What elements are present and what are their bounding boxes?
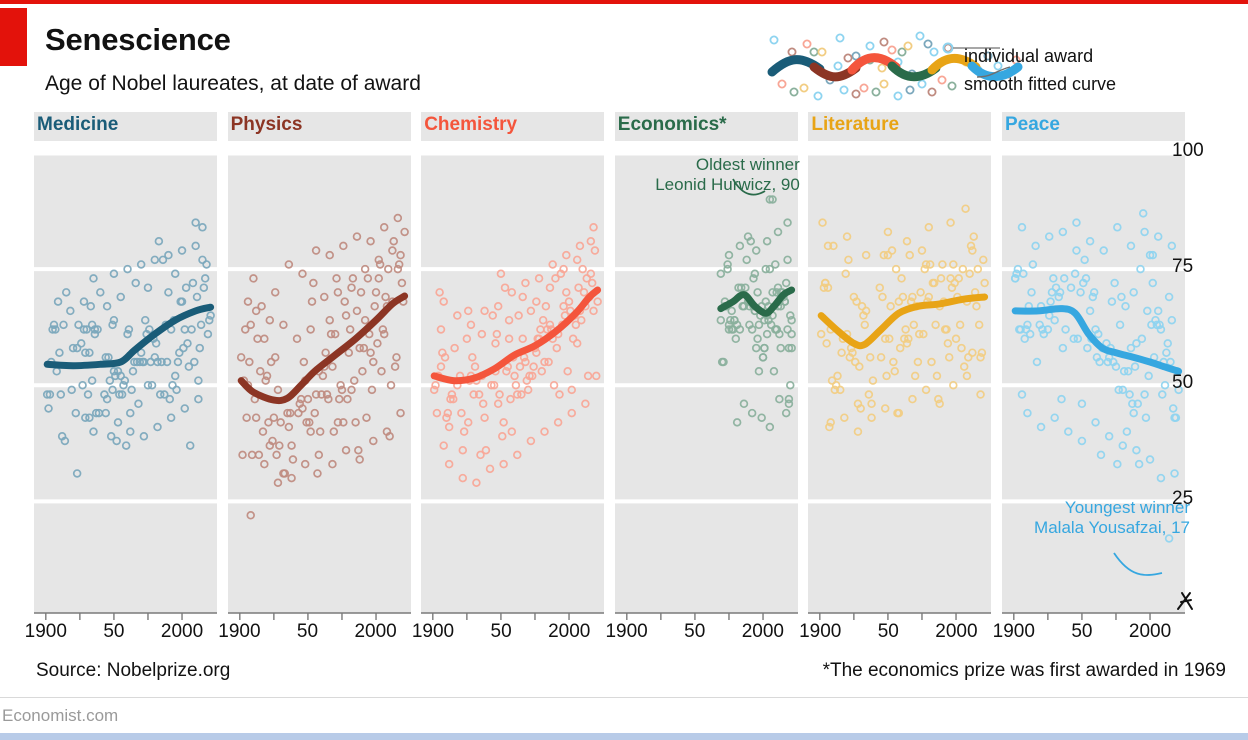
x-tick-label: 50 [471,621,531,643]
x-tick-label: 2000 [346,621,406,643]
x-tick-label: 1900 [984,621,1044,643]
scatter-points [818,205,988,435]
annotation-oldest-winner: Oldest winnerLeonid Hurwicz, 90 [610,155,800,195]
panel-title: Literature [811,114,899,136]
x-tick-label: 50 [1052,621,1112,643]
x-axis-group: 1900502000 [1002,612,1185,652]
panel-header: Economics* [615,112,798,141]
legend-item-individual-award: individual award [964,46,1093,67]
panel-title: Medicine [37,114,118,136]
y-axis: 100 75 50 25 [1172,112,1248,632]
x-tick-label: 50 [84,621,144,643]
page-title: Senescience [45,22,231,58]
x-axis-group: 1900502000 [421,612,604,652]
y-tick-25: 25 [1172,488,1193,510]
page-subtitle: Age of Nobel laureates, at date of award [45,72,421,96]
x-tick-label: 2000 [926,621,986,643]
scatter-points [44,219,214,477]
panel-header: Peace [1002,112,1185,141]
panel-header: Physics [228,112,411,141]
x-tick-label: 1900 [790,621,850,643]
panel-physics: Physics [228,112,411,612]
x-axis-group: 1900502000 [34,612,217,652]
x-axis-group: 1900502000 [808,612,991,652]
panel-header: Chemistry [421,112,604,141]
x-tick-label: 50 [858,621,918,643]
small-multiples-panels: MedicinePhysicsChemistryEconomics*Oldest… [34,112,1164,612]
panel-header: Literature [808,112,991,141]
panel-title: Peace [1005,114,1060,136]
scatter-points [1012,210,1182,542]
panel-economics: Economics*Oldest winnerLeonid Hurwicz, 9… [615,112,798,612]
panel-literature: Literature [808,112,991,612]
x-tick-label: 2000 [152,621,212,643]
legend-item-fitted-curve: smooth fitted curve [964,74,1116,95]
x-tick-label: 2000 [733,621,793,643]
scatter-points [717,196,795,430]
y-tick-75: 75 [1172,256,1193,278]
axis-break-icon [1174,589,1200,620]
panel-chemistry: Chemistry [421,112,604,612]
footer-divider [0,697,1248,698]
annotation-leader-line [1114,553,1162,575]
x-tick-label: 1900 [403,621,463,643]
panel-title: Chemistry [424,114,517,136]
top-red-rule [0,0,1248,4]
x-axis-group: 1900502000 [615,612,798,652]
annotation-line: Leonid Hurwicz, 90 [610,175,800,195]
x-axis-row: 1900502000190050200019005020001900502000… [34,612,1164,652]
source-note: Source: Nobelprize.org [36,660,230,682]
y-tick-50: 50 [1172,372,1193,394]
panel-plot-area [228,153,411,613]
footnote: *The economics prize was first awarded i… [823,660,1226,682]
x-tick-label: 1900 [209,621,269,643]
panel-plot-area [808,153,991,613]
x-tick-label: 2000 [539,621,599,643]
x-tick-label: 1900 [597,621,657,643]
chart-legend: individual award smooth fitted curve [752,22,1222,102]
y-tick-100: 100 [1172,140,1204,162]
x-tick-label: 1900 [16,621,76,643]
panel-title: Economics* [618,114,727,136]
panel-peace: PeaceYoungest winnerMalala Yousafzai, 17 [1002,112,1185,612]
annotation-line: Oldest winner [610,155,800,175]
annotation-line: Youngest winner [990,498,1190,518]
panel-medicine: Medicine [34,112,217,612]
panel-plot-area: Youngest winnerMalala Yousafzai, 17 [1002,153,1185,613]
panel-title: Physics [231,114,303,136]
bottom-blue-bar [0,733,1248,740]
economist-red-tag [0,8,27,66]
panel-header: Medicine [34,112,217,141]
annotation-youngest-winner: Youngest winnerMalala Yousafzai, 17 [990,498,1190,538]
x-tick-label: 50 [665,621,725,643]
panel-plot-area [421,153,604,613]
panel-plot-area [34,153,217,613]
economist-com-label: Economist.com [2,706,118,726]
panel-plot-area: Oldest winnerLeonid Hurwicz, 90 [615,153,798,613]
annotation-line: Malala Yousafzai, 17 [990,518,1190,538]
x-tick-label: 50 [278,621,338,643]
x-axis-group: 1900502000 [228,612,411,652]
